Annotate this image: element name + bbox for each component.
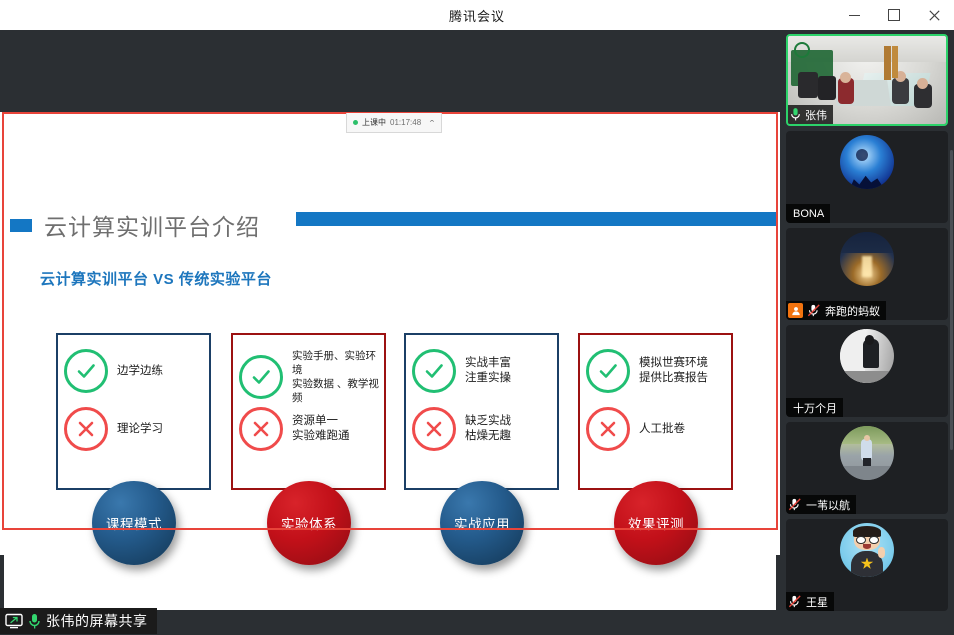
card-con-row: 资源单一 实验难跑通 <box>239 407 350 451</box>
window-controls <box>834 0 954 30</box>
participant-tile[interactable]: 奔跑的蚂蚁 <box>786 228 948 320</box>
close-button[interactable] <box>914 0 954 30</box>
participant-name-bar: 奔跑的蚂蚁 <box>786 301 886 320</box>
participant-name: 张伟 <box>805 107 827 123</box>
card-con-text: 资源单一 实验难跑通 <box>292 414 350 444</box>
card-pro-row: 模拟世赛环境 提供比赛报告 <box>586 349 708 393</box>
card-con-text: 理论学习 <box>117 422 163 437</box>
microphone-muted-icon <box>807 304 821 317</box>
participant-name-bar: 十万个月 <box>786 398 843 417</box>
stage-circles: 课程模式 实验体系 实战应用 效果评测 <box>56 481 756 591</box>
host-badge-icon <box>788 303 803 318</box>
close-icon <box>929 10 940 21</box>
card-con-row: 理论学习 <box>64 407 163 451</box>
participant-tile[interactable]: 一苇以航 <box>786 422 948 514</box>
avatar <box>840 232 894 286</box>
participant-strip-scrollbar[interactable] <box>950 150 953 450</box>
card-pro-row: 边学边练 <box>64 349 163 393</box>
participant-name-bar: BONA <box>786 204 830 223</box>
shared-app-window: 云计算实训平台介绍 云计算实训平台 VS 传统实验平台 边学边练 <box>0 112 780 555</box>
participant-name: 王星 <box>806 594 828 610</box>
minimize-button[interactable] <box>834 0 874 30</box>
card-pro-text: 模拟世赛环境 提供比赛报告 <box>639 356 708 386</box>
share-toolbar-pill[interactable]: 上课中 01:17:48 ⌃ <box>346 113 442 133</box>
avatar-wrap <box>786 523 948 577</box>
microphone-on-icon <box>790 107 801 122</box>
presenter-share-label: 张伟的屏幕共享 <box>0 608 157 634</box>
participant-tile[interactable]: 张伟 <box>786 34 948 126</box>
card-pro-text: 实战丰富 注重实操 <box>465 356 511 386</box>
avatar-wrap <box>786 426 948 480</box>
avatar-wrap <box>786 135 948 189</box>
check-icon <box>412 349 456 393</box>
cross-icon <box>239 407 283 451</box>
slide-subtitle: 云计算实训平台 VS 传统实验平台 <box>40 268 272 289</box>
comparison-card: 实验手册、实验环境 实验数据 、教学视频 资源单一 实验难跑通 <box>231 333 386 490</box>
chevron-up-icon[interactable]: ⌃ <box>428 119 436 127</box>
minimize-icon <box>849 15 860 16</box>
app-title: 腾讯会议 <box>449 6 505 25</box>
avatar <box>840 426 894 480</box>
stage-circle: 实战应用 <box>440 481 524 565</box>
card-pro-text: 边学边练 <box>117 364 163 379</box>
stage-circle: 课程模式 <box>92 481 176 565</box>
avatar-wrap <box>786 329 948 383</box>
card-pro-text: 实验手册、实验环境 实验数据 、教学视频 <box>292 349 384 405</box>
slide-title-row: 云计算实训平台介绍 <box>4 208 776 242</box>
card-con-text: 缺乏实战 枯燥无趣 <box>465 414 511 444</box>
participant-tile[interactable]: 十万个月 <box>786 325 948 417</box>
presentation-slide: 云计算实训平台介绍 云计算实训平台 VS 传统实验平台 边学边练 <box>4 196 776 610</box>
maximize-button[interactable] <box>874 0 914 30</box>
participant-strip[interactable]: 张伟 BONA <box>780 30 954 635</box>
comparison-card: 实战丰富 注重实操 缺乏实战 枯燥无趣 <box>404 333 559 490</box>
card-con-text: 人工批卷 <box>639 422 685 437</box>
stage-circle: 实验体系 <box>267 481 351 565</box>
participant-name-bar: 张伟 <box>788 105 833 124</box>
participant-tile[interactable]: 王星 <box>786 519 948 611</box>
avatar <box>840 329 894 383</box>
participant-name-bar: 王星 <box>786 592 834 611</box>
screen-share-icon <box>5 613 23 629</box>
cross-icon <box>64 407 108 451</box>
share-status-text: 上课中 <box>362 117 386 128</box>
check-icon <box>64 349 108 393</box>
cross-icon <box>412 407 456 451</box>
recording-dot-icon <box>353 120 358 125</box>
presenter-share-text: 张伟的屏幕共享 <box>46 611 148 631</box>
card-con-row: 缺乏实战 枯燥无趣 <box>412 407 511 451</box>
participant-name: 奔跑的蚂蚁 <box>825 303 880 319</box>
microphone-muted-icon <box>788 498 802 511</box>
microphone-on-icon <box>28 613 41 630</box>
participant-name-bar: 一苇以航 <box>786 495 856 514</box>
tencent-meeting-window: 腾讯会议 云计算实训平台介绍 云计 <box>0 0 954 635</box>
microphone-muted-icon <box>788 595 802 608</box>
comparison-cards: 边学边练 理论学习 <box>56 333 756 498</box>
avatar <box>840 523 894 577</box>
participant-name: BONA <box>788 208 824 220</box>
participant-name: 十万个月 <box>788 400 837 416</box>
slide-title: 云计算实训平台介绍 <box>44 208 260 242</box>
slide-title-square <box>10 219 32 232</box>
card-con-row: 人工批卷 <box>586 407 685 451</box>
check-icon <box>239 355 283 399</box>
comparison-card: 模拟世赛环境 提供比赛报告 人工批卷 <box>578 333 733 490</box>
check-icon <box>586 349 630 393</box>
stage-circle: 效果评测 <box>614 481 698 565</box>
comparison-card: 边学边练 理论学习 <box>56 333 211 490</box>
avatar-wrap <box>786 232 948 286</box>
card-pro-row: 实验手册、实验环境 实验数据 、教学视频 <box>239 349 384 405</box>
share-timer: 01:17:48 <box>390 118 421 127</box>
card-pro-row: 实战丰富 注重实操 <box>412 349 511 393</box>
avatar <box>840 135 894 189</box>
participant-tile[interactable]: BONA <box>786 131 948 223</box>
cross-icon <box>586 407 630 451</box>
maximize-icon <box>888 9 900 21</box>
title-bar: 腾讯会议 <box>0 0 954 30</box>
participant-name: 一苇以航 <box>806 497 850 513</box>
shared-screen-stage[interactable]: 云计算实训平台介绍 云计算实训平台 VS 传统实验平台 边学边练 <box>0 30 780 635</box>
meeting-body: 云计算实训平台介绍 云计算实训平台 VS 传统实验平台 边学边练 <box>0 30 954 635</box>
